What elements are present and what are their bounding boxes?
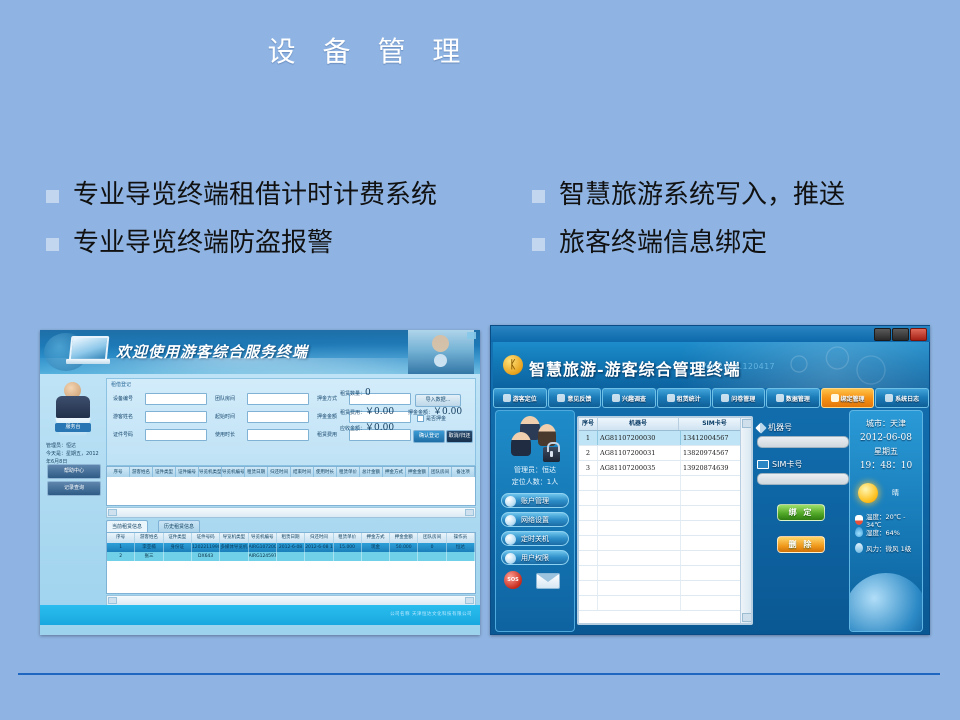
table-cell [277,552,305,561]
table-cell [447,552,475,561]
table-cell: AIRG107200030 [249,543,277,552]
column-header: 游客姓名 [135,533,163,543]
nav-tab-label: 问卷管理 [731,394,755,403]
table-row-empty[interactable] [579,596,751,611]
table-cell: 2 [107,552,135,561]
total-receivable: 应收金额：￥0.00 [340,420,394,433]
operator-badge: 服务台 [55,423,91,432]
weekday-label: 星期五 [850,445,922,459]
table-cell [305,552,333,561]
table-cell: 2012-6-08 19:34 [305,543,333,552]
locate-icon [503,394,511,402]
window-controls [874,328,927,341]
nav-tab-label: 意见反馈 [567,394,591,403]
table-row-empty[interactable] [579,476,751,491]
table-row[interactable]: 1AG8110720003013412004567 [579,431,751,446]
table-cell [579,581,598,595]
table-cell [579,566,598,580]
nav-tab-label: 租赁统计 [677,394,701,403]
left-app-banner: 欢迎使用游客综合服务终端 [40,330,480,374]
binding-actions: 绑 定 删 除 [777,504,825,568]
column-header: 租赁单价 [334,533,362,543]
page-title: 设 备 管 理 [0,30,737,70]
total-deposit: 押金金额：￥0.00 [408,404,462,417]
table-cell: 1 [579,431,598,445]
nav-tab-兴趣调查[interactable]: 兴趣调查 [602,388,656,408]
table-cell [579,506,598,520]
table-cell [579,596,598,610]
column-header: 证件类型 [164,533,192,543]
table-cell [598,596,681,610]
table-cell: 身份证 [164,543,192,552]
table-cell: 多媒体导览机 [220,543,248,552]
table-cell: AIRG124597098 [249,552,277,561]
machine-no-label: 机器号 [757,422,853,433]
cancel-return-button[interactable]: 取消/归还 [446,430,473,443]
table-cell [418,552,446,561]
sidebar-item-permission[interactable]: 用户权限 [501,550,569,565]
table-cell: 2 [579,446,598,460]
decorative-rings [775,342,895,388]
table-row-empty[interactable] [579,491,751,506]
app-logo-icon: ᛕ [503,355,523,375]
table-row[interactable]: 2张三DX643AIRG124597098 [107,552,475,561]
city-label: 城市：天津 [850,417,922,431]
table-cell: 李亚楠 [135,543,163,552]
column-header: 租赁日期 [277,533,305,543]
sun-icon [858,483,878,503]
field-label: 使用时长 [215,429,235,441]
table-cell [598,551,681,565]
confirm-button[interactable]: 确认登记 [413,430,445,443]
sos-icon[interactable]: SOS [504,571,522,589]
vertical-scrollbar[interactable] [740,418,751,623]
left-app-footer: 公司名称 天津恒达文化科技有限公司 [40,605,480,625]
total-count: 租赁数量：0 [340,388,371,398]
rental-form: 租借登记 设备编号 团队房间 押金方式 导入数据... 游客姓名 起始时间 押金… [106,378,476,466]
bullet-text: 专业导览终端防盗报警 [73,226,333,260]
footer-divider [18,673,940,675]
table-row[interactable]: 1李亚楠身份证120221199004多媒体导览机AIRG10720003020… [107,543,475,552]
table-row-empty[interactable] [579,581,751,596]
bullet-item: 智慧旅游系统写入，推送 [532,178,845,212]
wind-row: 风力：微风 1级 [855,543,921,553]
table-cell: 现金 [362,543,390,552]
table-row-empty[interactable] [579,566,751,581]
column-header: 押金方式 [362,533,390,543]
operator-avatar [51,382,95,428]
table-cell [598,536,681,550]
table-cell [579,551,598,565]
table-cell [164,552,192,561]
horizontal-scrollbar[interactable] [106,507,476,518]
nav-tab-绑定管理[interactable]: 绑定管理 [821,388,875,408]
rental-table-body [106,477,476,506]
right-app-window: ᛕ 智慧旅游-游客综合管理终端 Ver 2.1.1.120417 游客定位意见反… [490,325,930,635]
column-header: 押金金额 [390,533,418,543]
column-header: 团队房间 [418,533,446,543]
bullet-item: 专业导览终端防盗报警 [46,226,333,260]
table-cell [579,521,598,535]
table-cell [598,566,681,580]
sim-no-input[interactable] [757,473,849,485]
questionnaire-icon [721,394,729,402]
admin-line: 管理员：恒达 [46,442,102,450]
log-icon [885,394,893,402]
left-app-body: 服务台 管理员：恒达 今天是：星期五，2012年6月8日 帮助中心 记录查询 租… [40,374,480,635]
chart-icon [667,394,675,402]
binding-table-body: 1AG81107200030134120045672AG811072000311… [579,431,751,611]
nav-tab-租赁统计[interactable]: 租赁统计 [657,388,711,408]
table-cell: DX643 [192,552,220,561]
table-cell [362,552,390,561]
globe-icon [849,573,923,632]
date-label: 2012-06-08 [850,431,922,445]
table-cell [598,491,681,505]
nav-tab-意见反馈[interactable]: 意见反馈 [548,388,602,408]
nav-tab-label: 游客定位 [513,394,537,403]
permission-icon [505,553,516,564]
column-header: 证件号码 [192,533,220,543]
sidebar-item-label: 定时关机 [521,535,549,543]
close-icon[interactable] [910,328,927,341]
table-cell [598,476,681,490]
field-label: 押金方式 [317,393,337,405]
nav-tab-label: 兴趣调查 [622,394,646,403]
sidebar-records-button[interactable]: 记录查询 [47,481,101,496]
table-cell [579,476,598,490]
field-label: 租赁费用 [317,429,337,441]
lock-icon [543,447,560,462]
right-app-banner: ᛕ 智慧旅游-游客综合管理终端 Ver 2.1.1.120417 [493,342,929,388]
humidity-row: 湿度：64% [855,527,921,537]
nav-tab-问卷管理[interactable]: 问卷管理 [712,388,766,408]
right-app-screenshot: ᛕ 智慧旅游-游客综合管理终端 Ver 2.1.1.120417 游客定位意见反… [490,325,930,635]
sidebar-item-label: 用户权限 [521,554,549,562]
device-no-input[interactable] [145,393,207,405]
table-row-empty[interactable] [579,536,751,551]
table-cell [390,552,418,561]
mail-icon[interactable] [536,573,560,589]
bullet-item: 专业导览终端租借计时计费系统 [46,178,516,212]
start-time-input[interactable] [247,411,309,423]
binding-form: 机器号 SIM卡号 [757,422,853,496]
column-header: 归还时间 [305,533,333,543]
footer-text: 公司名称 天津恒达文化科技有限公司 [390,611,472,617]
binding-table-header: 序号机器号SIM卡号 [579,418,751,431]
sidebar-item-label: 网络设置 [521,516,549,524]
table-cell [579,491,598,505]
table-cell: AG81107200035 [598,461,681,475]
bullet-text: 专业导览终端租借计时计费系统 [73,178,493,212]
column-header: 导览机类型 [220,533,248,543]
table-cell [598,521,681,535]
table-cell: 120221199004 [192,543,220,552]
delete-button[interactable]: 删 除 [777,536,825,553]
bullet-square-icon [46,238,59,251]
table-cell: 恒达 [447,543,475,552]
nav-tab-label: 系统日志 [895,394,919,403]
column-header: 序号 [107,533,135,543]
table-cell: 3 [579,461,598,475]
form-group-label: 租借登记 [111,381,131,388]
banner-badge-icon [467,332,476,339]
table-cell: 1 [107,543,135,552]
total-rental-fee: 租赁费用：￥0.00 [340,404,394,417]
table-cell: 50.000 [390,543,418,552]
hostess-photo [408,330,474,374]
sidebar-item-shutdown[interactable]: 定时关机 [501,531,569,546]
weather-info-panel: 城市：天津 2012-06-08 星期五 19：48：10 晴 温度：20℃ -… [849,410,923,632]
sidebar-admin-line: 管理员：恒达 [496,465,574,475]
bullet-list: 专业导览终端租借计时计费系统 专业导览终端防盗报警 智慧旅游系统写入，推送 旅客… [0,178,960,288]
account-icon [505,496,516,507]
right-app-sidebar: 管理员：恒达 定位人数：1人 账户管理 网络设置 定时关机 用户权限 SOS [495,410,575,632]
table-cell: 15.000 [334,543,362,552]
rental-grid: 序号游客姓名证件类型证件号码导览机类型导览机编号租赁日期归还时间租赁单价押金方式… [106,532,476,594]
thermometer-icon [855,515,863,525]
feedback-icon [557,394,565,402]
field-label: 起始时间 [215,411,235,423]
sidebar-item-account[interactable]: 账户管理 [501,493,569,508]
survey-icon [612,394,620,402]
sidebar-count-line: 定位人数：1人 [496,477,574,487]
sim-card-icon [757,460,769,469]
rental-tabs: 当前租赁信息 历史租赁信息 [106,520,474,532]
nav-tab-数据管理[interactable]: 数据管理 [766,388,820,408]
table-cell: AG81107200031 [598,446,681,460]
field-label: 游客姓名 [113,411,133,423]
field-label: 团队房间 [215,393,235,405]
wind-icon [855,543,863,553]
left-app-sidebar: 服务台 管理员：恒达 今天是：星期五，2012年6月8日 帮助中心 记录查询 [44,380,102,590]
guest-name-input[interactable] [145,411,207,423]
scroll-up-icon[interactable] [742,419,752,428]
field-label: 证件号码 [113,429,133,441]
window-titlebar [491,326,930,342]
binding-table[interactable]: 序号机器号SIM卡号 1AG81107200030134120045672AG8… [577,416,753,625]
database-icon [776,394,784,402]
table-row-empty[interactable] [579,551,751,566]
field-label: 设备编号 [113,393,133,405]
table-cell: 张三 [135,552,163,561]
column-header: 序号 [579,418,598,430]
bullet-text: 旅客终端信息绑定 [559,226,767,260]
time-label: 19：48：10 [850,459,922,473]
scroll-down-icon[interactable] [742,613,752,622]
table-row-empty[interactable] [579,521,751,536]
table-row[interactable]: 3AG8110720003513920874639 [579,461,751,476]
nav-tab-label: 数据管理 [786,394,810,403]
column-header: 机器号 [598,418,679,430]
power-icon [505,534,516,545]
weather-condition: 晴 [892,488,899,498]
bullet-square-icon [532,190,545,203]
sidebar-item-network[interactable]: 网络设置 [501,512,569,527]
network-icon [505,515,516,526]
bind-button[interactable]: 绑 定 [777,504,825,521]
pencil-icon [755,422,766,433]
group-room-input[interactable] [247,393,309,405]
bullet-item: 旅客终端信息绑定 [532,226,767,260]
bind-icon [831,394,839,402]
table-cell [220,552,248,561]
table-cell: 0 [418,543,446,552]
id-number-input[interactable] [145,429,207,441]
main-nav-tabs: 游客定位意见反馈兴趣调查租赁统计问卷管理数据管理绑定管理系统日志 [493,388,929,406]
sidebar-item-label: 账户管理 [521,497,549,505]
left-app-screenshot: 欢迎使用游客综合服务终端 服务台 管理员：恒达 今天是：星期五，2012年6月8… [40,330,480,635]
bullet-square-icon [532,238,545,251]
nav-tab-系统日志[interactable]: 系统日志 [875,388,929,408]
table-cell [334,552,362,561]
bullet-text: 智慧旅游系统写入，推送 [559,178,845,212]
users-group-icon [508,416,562,462]
sim-no-label: SIM卡号 [757,459,853,470]
sidebar-help-button[interactable]: 帮助中心 [47,464,101,479]
field-label: 押金金额 [317,411,337,423]
nav-tab-label: 绑定管理 [841,394,865,403]
table-cell: 2012-6-08 [277,543,305,552]
app-version: Ver 2.1.1.120417 [701,362,775,371]
column-header: 导览机编号 [249,533,277,543]
machine-no-input[interactable] [757,436,849,448]
sidebar-user-info: 管理员：恒达 今天是：星期五，2012年6月8日 [46,442,102,466]
minimize-icon[interactable] [874,328,891,341]
table-row-empty[interactable] [579,506,751,521]
nav-tab-游客定位[interactable]: 游客定位 [493,388,547,408]
table-cell [579,536,598,550]
table-cell: AG81107200030 [598,431,681,445]
table-cell [598,506,681,520]
droplet-icon [855,527,863,537]
bullet-square-icon [46,190,59,203]
table-row[interactable]: 2AG8110720003113820974567 [579,446,751,461]
column-header: 操作员 [447,533,475,543]
maximize-icon[interactable] [892,328,909,341]
duration-input[interactable] [247,429,309,441]
table-cell [598,581,681,595]
